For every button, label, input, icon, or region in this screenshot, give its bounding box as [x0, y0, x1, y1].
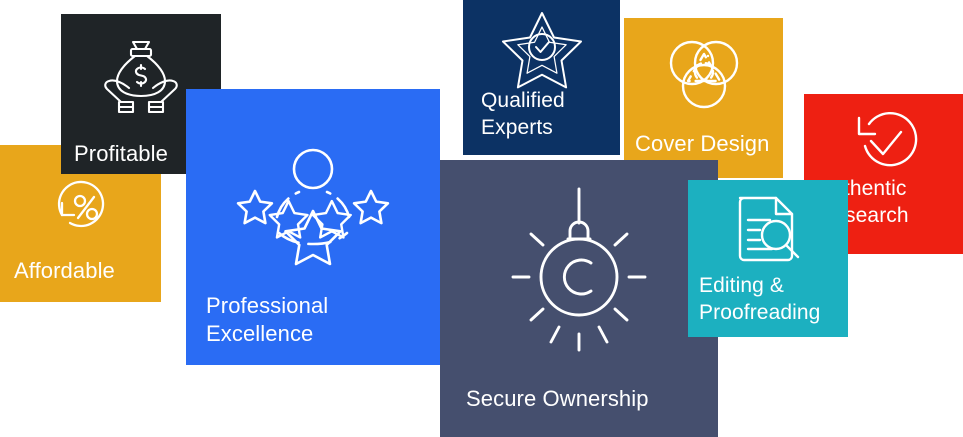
card-label: Editing & Proofreading: [699, 273, 848, 327]
card-professional-excellence[interactable]: Professional Excellence: [186, 89, 440, 365]
star-check-badge-icon: [463, 8, 620, 88]
card-label: Qualified Experts: [481, 88, 620, 142]
feature-cards-collage: Affordable Profitable: [0, 0, 963, 437]
circular-arrow-check-icon: [804, 106, 963, 176]
card-label: Affordable: [14, 257, 161, 285]
card-editing-proofreading[interactable]: Editing & Proofreading: [688, 180, 848, 337]
card-secure-ownership[interactable]: Secure Ownership: [440, 160, 718, 437]
card-cover-design[interactable]: Cover Design: [624, 18, 783, 178]
card-label: Secure Ownership: [466, 385, 718, 413]
three-circles-venn-icon: [624, 36, 783, 116]
document-magnifier-icon: [688, 191, 848, 269]
card-label: Professional Excellence: [206, 292, 440, 348]
card-qualified-experts[interactable]: Qualified Experts: [463, 0, 620, 155]
person-five-stars-icon: [186, 141, 440, 271]
card-label: Cover Design: [635, 130, 783, 158]
percent-refresh-icon: [0, 167, 161, 249]
copyright-bulb-icon: [440, 186, 718, 366]
